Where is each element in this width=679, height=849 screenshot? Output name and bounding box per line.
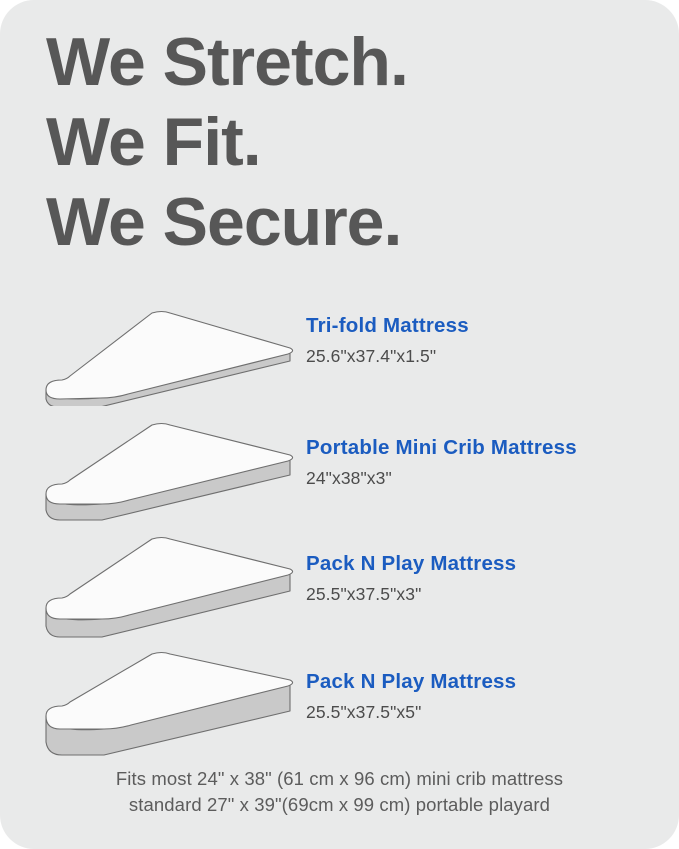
product-dimensions: 25.5"x37.5"x3" <box>306 583 666 605</box>
product-title: Pack N Play Mattress <box>306 670 666 694</box>
product-title: Portable Mini Crib Mattress <box>306 436 666 460</box>
mattress-illustration-2 <box>40 420 300 530</box>
headline-line-2: We Fit. <box>46 102 646 182</box>
product-title: Pack N Play Mattress <box>306 552 666 576</box>
product-title: Tri-fold Mattress <box>306 314 666 338</box>
product-text-2: Portable Mini Crib Mattress 24"x38"x3" <box>306 436 666 489</box>
footer-line-2: standard 27" x 39"(69cm x 99 cm) portabl… <box>0 792 679 818</box>
mattress-illustration-1 <box>40 306 300 416</box>
product-text-1: Tri-fold Mattress 25.6"x37.4"x1.5" <box>306 314 666 367</box>
product-dimensions: 25.6"x37.4"x1.5" <box>306 345 666 367</box>
footer-note: Fits most 24" x 38" (61 cm x 96 cm) mini… <box>0 766 679 818</box>
mattress-isometric-icon <box>40 650 300 765</box>
headline-line-3: We Secure. <box>46 182 646 262</box>
product-row: Portable Mini Crib Mattress 24"x38"x3" <box>0 420 679 525</box>
mattress-isometric-icon <box>40 306 300 406</box>
product-dimensions: 25.5"x37.5"x5" <box>306 701 666 723</box>
headline: We Stretch. We Fit. We Secure. <box>46 22 646 262</box>
product-text-3: Pack N Play Mattress 25.5"x37.5"x3" <box>306 552 666 605</box>
product-infographic: We Stretch. We Fit. We Secure. Tri-fold … <box>0 0 679 849</box>
mattress-illustration-4 <box>40 650 300 760</box>
product-dimensions: 24"x38"x3" <box>306 467 666 489</box>
footer-line-1: Fits most 24" x 38" (61 cm x 96 cm) mini… <box>0 766 679 792</box>
mattress-illustration-3 <box>40 534 300 644</box>
mattress-isometric-icon <box>40 420 300 525</box>
product-row: Tri-fold Mattress 25.6"x37.4"x1.5" <box>0 306 679 406</box>
product-text-4: Pack N Play Mattress 25.5"x37.5"x5" <box>306 670 666 723</box>
mattress-isometric-icon <box>40 534 300 644</box>
headline-line-1: We Stretch. <box>46 22 646 102</box>
product-row: Pack N Play Mattress 25.5"x37.5"x3" <box>0 534 679 644</box>
product-row: Pack N Play Mattress 25.5"x37.5"x5" <box>0 650 679 765</box>
